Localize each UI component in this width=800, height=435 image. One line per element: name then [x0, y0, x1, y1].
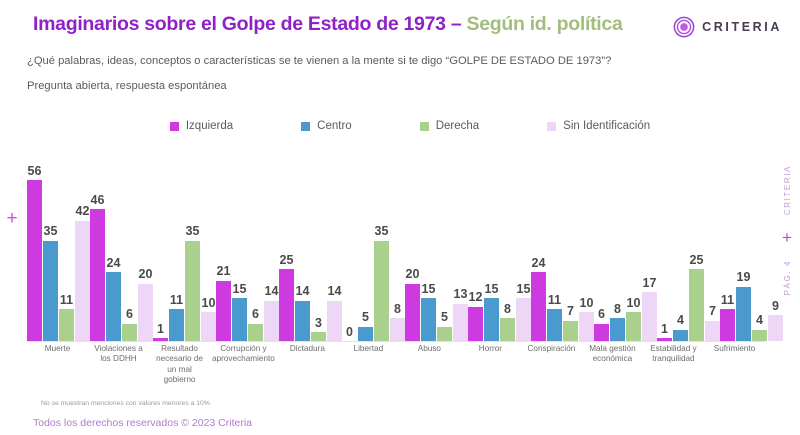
- rail-brand-vertical: CRITERIA: [783, 165, 792, 215]
- bar-izquierda[interactable]: [531, 272, 546, 341]
- bar-derecha[interactable]: [374, 241, 389, 341]
- legend-label-derecha: Derecha: [436, 120, 479, 132]
- bar-izquierda[interactable]: [468, 307, 483, 341]
- bar-column: 11: [720, 152, 735, 341]
- bar-column: 20: [138, 152, 153, 341]
- bar-value-label: 25: [690, 254, 704, 267]
- bar-value-label: 8: [504, 303, 511, 316]
- bar-value-label: 5: [441, 311, 448, 324]
- bar-value-label: 11: [548, 294, 561, 307]
- bar-centro[interactable]: [169, 309, 184, 341]
- bar-column: 11: [547, 152, 562, 341]
- bar-value-label: 8: [394, 303, 401, 316]
- bar-group: 14257: [657, 152, 720, 341]
- bar-column: 7: [563, 152, 578, 341]
- bar-value-label: 11: [170, 294, 183, 307]
- bar-value-label: 24: [107, 257, 121, 270]
- survey-question-note: Pregunta abierta, respuesta espontánea: [27, 80, 227, 92]
- bar-value-label: 6: [126, 308, 133, 321]
- bar-centro[interactable]: [421, 298, 436, 341]
- category-label: Sufrimiento: [704, 344, 765, 385]
- bar-izquierda[interactable]: [720, 309, 735, 341]
- brand-name: CRITERIA: [702, 20, 782, 34]
- bar-column: 3: [311, 152, 326, 341]
- legend-swatch-sin-identificacion: [547, 122, 556, 131]
- bar-column: 7: [705, 152, 720, 341]
- bar-column: 56: [27, 152, 42, 341]
- page-title: Imaginarios sobre el Golpe de Estado de …: [33, 13, 623, 36]
- bar-derecha[interactable]: [626, 312, 641, 341]
- category-label: Muerte: [27, 344, 88, 385]
- category-label: Resultado necesario de un mal gobierno: [149, 344, 210, 385]
- bar-group: 111949: [720, 152, 783, 341]
- bar-column: 4: [752, 152, 767, 341]
- bar-value-label: 19: [737, 271, 751, 284]
- legend-swatch-centro: [301, 122, 310, 131]
- bar-centro[interactable]: [43, 241, 58, 341]
- bar-column: 4: [673, 152, 688, 341]
- bar-centro[interactable]: [484, 298, 499, 341]
- bar-column: 13: [453, 152, 468, 341]
- bar-column: 15: [421, 152, 436, 341]
- bar-value-label: 25: [280, 254, 294, 267]
- bar-sin-identificación[interactable]: [705, 321, 720, 341]
- bar-value-label: 14: [296, 285, 310, 298]
- bar-group: 56351142: [27, 152, 90, 341]
- bar-value-label: 6: [252, 308, 259, 321]
- bar-value-label: 4: [677, 314, 684, 327]
- bar-column: 35: [43, 152, 58, 341]
- category-label: Mala gestión económica: [582, 344, 643, 385]
- bar-centro[interactable]: [547, 309, 562, 341]
- bar-value-label: 15: [233, 283, 247, 296]
- category-label: Corrupción y aprovechamiento: [210, 344, 277, 385]
- bar-column: 21: [216, 152, 231, 341]
- bar-value-label: 13: [454, 288, 468, 301]
- bar-value-label: 3: [315, 317, 322, 330]
- bar-value-label: 5: [362, 311, 369, 324]
- bar-derecha[interactable]: [563, 321, 578, 341]
- bar-column: 1: [153, 152, 168, 341]
- page-number: PÁG. 4: [783, 260, 792, 295]
- bar-value-label: 10: [627, 297, 641, 310]
- category-label: Horror: [460, 344, 521, 385]
- chart-footnote: No se muestran menciones con valores men…: [41, 400, 210, 407]
- bar-centro[interactable]: [673, 330, 688, 341]
- chart-legend: Izquierda Centro Derecha Sin Identificac…: [0, 120, 800, 132]
- bar-column: 6: [122, 152, 137, 341]
- bar-centro[interactable]: [106, 272, 121, 341]
- bar-izquierda[interactable]: [90, 209, 105, 341]
- x-axis-category-labels: MuerteViolaciones a los DDHHResultado ne…: [27, 344, 765, 385]
- bar-value-label: 35: [375, 225, 389, 238]
- bar-column: 46: [90, 152, 105, 341]
- bar-value-label: 46: [91, 194, 105, 207]
- bar-derecha[interactable]: [437, 327, 452, 341]
- bar-sin-identificación[interactable]: [75, 221, 90, 341]
- legend-swatch-derecha: [420, 122, 429, 131]
- bar-column: 11: [169, 152, 184, 341]
- bar-column: 12: [468, 152, 483, 341]
- bar-value-label: 14: [328, 285, 342, 298]
- bar-value-label: 10: [580, 297, 594, 310]
- title-dash: –: [446, 13, 467, 35]
- bar-value-label: 24: [532, 257, 546, 270]
- bar-column: 6: [594, 152, 609, 341]
- decorative-plus-left: +: [4, 211, 20, 227]
- bar-value-label: 21: [217, 265, 231, 278]
- page-header: Imaginarios sobre el Golpe de Estado de …: [0, 0, 800, 100]
- bar-group: 2115614: [216, 152, 279, 341]
- bar-column: 15: [516, 152, 531, 341]
- bar-column: 10: [201, 152, 216, 341]
- bar-value-label: 42: [76, 205, 90, 218]
- bar-column: 15: [232, 152, 247, 341]
- bar-centro[interactable]: [232, 298, 247, 341]
- bar-value-label: 4: [756, 314, 763, 327]
- bar-group: 2514314: [279, 152, 342, 341]
- bar-column: 25: [279, 152, 294, 341]
- bar-sin-identificación[interactable]: [516, 298, 531, 341]
- bar-column: 19: [736, 152, 751, 341]
- bar-column: 15: [484, 152, 499, 341]
- bar-value-label: 11: [721, 294, 734, 307]
- bar-value-label: 11: [60, 294, 73, 307]
- bar-column: 11: [59, 152, 74, 341]
- bar-column: 24: [531, 152, 546, 341]
- bar-centro[interactable]: [736, 287, 751, 341]
- bar-group: 05358: [342, 152, 405, 341]
- category-label: Libertad: [338, 344, 399, 385]
- bar-column: 14: [264, 152, 279, 341]
- category-label: Abuso: [399, 344, 460, 385]
- bar-value-label: 1: [157, 323, 164, 336]
- bar-column: 5: [437, 152, 452, 341]
- category-label: Violaciones a los DDHH: [88, 344, 149, 385]
- bar-derecha[interactable]: [500, 318, 515, 341]
- bar-column: 25: [689, 152, 704, 341]
- x-axis-line: [27, 341, 765, 342]
- bar-column: 1: [657, 152, 672, 341]
- category-label: Estabilidad y tranquilidad: [643, 344, 704, 385]
- bar-column: 10: [579, 152, 594, 341]
- category-label: Dictadura: [277, 344, 338, 385]
- legend-item-sin-identificacion[interactable]: Sin Identificación: [547, 120, 650, 132]
- bar-value-label: 17: [643, 277, 657, 290]
- bar-value-label: 0: [346, 326, 353, 339]
- title-main: Imaginarios sobre el Golpe de Estado de …: [33, 13, 446, 35]
- bar-column: 14: [295, 152, 310, 341]
- bar-izquierda[interactable]: [405, 284, 420, 341]
- bar-column: 42: [75, 152, 90, 341]
- bar-sin-identificación[interactable]: [327, 301, 342, 341]
- bar-value-label: 20: [139, 268, 153, 281]
- bar-centro[interactable]: [610, 318, 625, 341]
- legend-item-izquierda[interactable]: Izquierda: [170, 120, 233, 132]
- bar-value-label: 15: [485, 283, 499, 296]
- bar-sin-identificación[interactable]: [642, 292, 657, 341]
- legend-label-sin-identificacion: Sin Identificación: [563, 120, 650, 132]
- legend-label-centro: Centro: [317, 120, 352, 132]
- bar-sin-identificación[interactable]: [579, 312, 594, 341]
- bar-centro[interactable]: [295, 301, 310, 341]
- bar-group: 1113510: [153, 152, 216, 341]
- copyright-notice: Todos los derechos reservados © 2023 Cri…: [33, 417, 252, 429]
- bar-izquierda[interactable]: [594, 324, 609, 341]
- bar-derecha[interactable]: [752, 330, 767, 341]
- bar-derecha[interactable]: [311, 332, 326, 341]
- legend-item-derecha[interactable]: Derecha: [420, 120, 479, 132]
- bar-value-label: 15: [517, 283, 531, 296]
- bar-value-label: 35: [186, 225, 200, 238]
- bar-value-label: 15: [422, 283, 436, 296]
- bar-column: 5: [358, 152, 373, 341]
- bar-sin-identificación[interactable]: [264, 301, 279, 341]
- bar-value-label: 8: [614, 303, 621, 316]
- legend-swatch-izquierda: [170, 122, 179, 131]
- bar-izquierda[interactable]: [27, 180, 42, 341]
- bar-value-label: 56: [28, 165, 42, 178]
- bar-column: 8: [610, 152, 625, 341]
- bar-value-label: 10: [202, 297, 216, 310]
- bar-derecha[interactable]: [185, 241, 200, 341]
- bar-column: 24: [106, 152, 121, 341]
- bar-column: 8: [390, 152, 405, 341]
- bar-group: 2015513: [405, 152, 468, 341]
- bar-sin-identificación[interactable]: [138, 284, 153, 341]
- bar-derecha[interactable]: [689, 269, 704, 341]
- bar-derecha[interactable]: [122, 324, 137, 341]
- bar-column: 10: [626, 152, 641, 341]
- bar-value-label: 6: [598, 308, 605, 321]
- bar-izquierda[interactable]: [279, 269, 294, 341]
- bar-group: 4624620: [90, 152, 153, 341]
- bar-derecha[interactable]: [59, 309, 74, 341]
- bar-column: 35: [374, 152, 389, 341]
- side-rail: CRITERIA + PÁG. 4: [778, 150, 796, 310]
- bar-column: 8: [500, 152, 515, 341]
- bar-sin-identificación[interactable]: [201, 312, 216, 341]
- brand-logo: CRITERIA: [673, 16, 782, 38]
- bar-izquierda[interactable]: [216, 281, 231, 341]
- bar-value-label: 7: [567, 305, 574, 318]
- title-subtitle: Según id. política: [466, 13, 622, 35]
- survey-question: ¿Qué palabras, ideas, conceptos o caract…: [27, 55, 611, 67]
- concentric-spiral-icon: [673, 16, 695, 38]
- bar-column: 17: [642, 152, 657, 341]
- grouped-bar-chart: 5635114246246201113510211561425143140535…: [27, 152, 765, 382]
- bar-value-label: 1: [661, 323, 668, 336]
- bar-group: 681017: [594, 152, 657, 341]
- bar-value-label: 20: [406, 268, 420, 281]
- bar-group: 2411710: [531, 152, 594, 341]
- bar-sin-identificación[interactable]: [453, 304, 468, 341]
- bar-column: 14: [327, 152, 342, 341]
- bar-column: 35: [185, 152, 200, 341]
- bar-sin-identificación[interactable]: [768, 315, 783, 341]
- bar-centro[interactable]: [358, 327, 373, 341]
- category-label: Conspiración: [521, 344, 582, 385]
- bar-derecha[interactable]: [248, 324, 263, 341]
- bar-sin-identificación[interactable]: [390, 318, 405, 341]
- decorative-plus-right: +: [782, 229, 792, 246]
- bar-column: 20: [405, 152, 420, 341]
- legend-item-centro[interactable]: Centro: [301, 120, 352, 132]
- bar-value-label: 14: [265, 285, 279, 298]
- bar-group: 1215815: [468, 152, 531, 341]
- legend-label-izquierda: Izquierda: [186, 120, 233, 132]
- chart-plot-area: 5635114246246201113510211561425143140535…: [27, 152, 765, 341]
- bar-column: 0: [342, 152, 357, 341]
- bar-value-label: 7: [709, 305, 716, 318]
- bar-value-label: 35: [44, 225, 58, 238]
- bar-column: 6: [248, 152, 263, 341]
- bar-value-label: 12: [469, 291, 483, 304]
